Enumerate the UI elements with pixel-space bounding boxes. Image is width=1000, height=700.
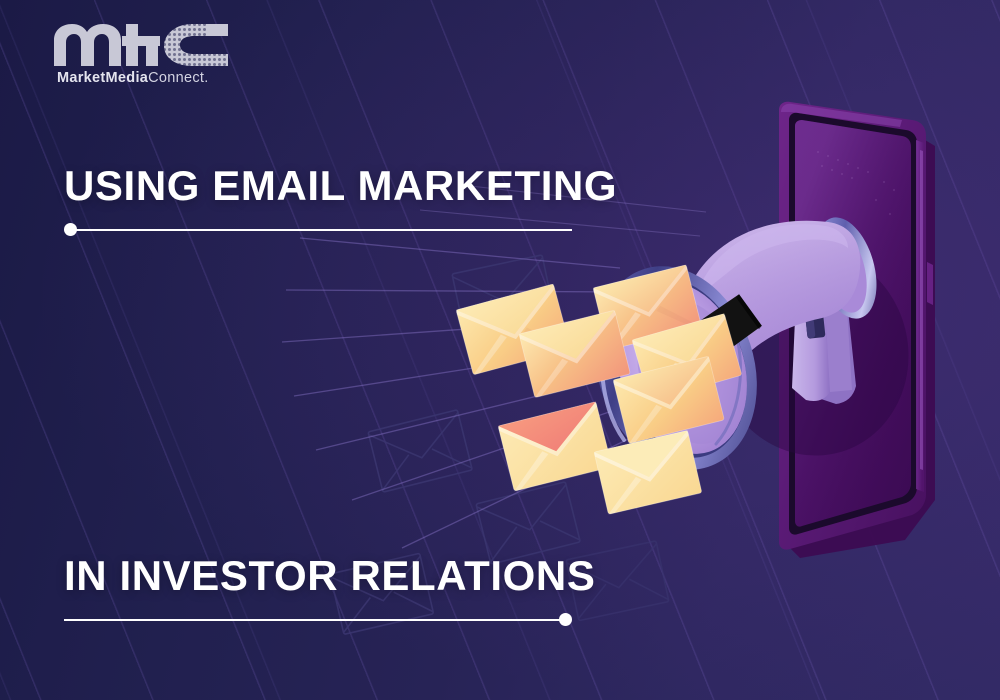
headline-rule-top xyxy=(64,223,572,236)
rule-bar xyxy=(70,229,572,231)
headline-line-2: IN INVESTOR RELATIONS xyxy=(64,552,595,600)
headline-bottom-block: IN INVESTOR RELATIONS xyxy=(64,552,595,626)
megaphone-back-ring xyxy=(805,210,887,325)
megaphone-cone xyxy=(645,221,860,438)
speed-lines xyxy=(282,238,668,548)
envelope xyxy=(593,265,702,350)
brand-tagline: MarketMediaConnect. xyxy=(57,70,209,86)
megaphone-mouth xyxy=(570,245,783,491)
volume-button xyxy=(927,262,933,305)
flying-envelopes xyxy=(456,265,742,515)
headline-line-1: USING EMAIL MARKETING xyxy=(64,162,617,210)
megaphone xyxy=(570,210,888,491)
tagline-bold: MarketMedia xyxy=(57,70,148,86)
brand-logo[interactable]: MarketMediaConnect. xyxy=(52,22,252,94)
headline-rule-bottom xyxy=(64,613,572,626)
envelope xyxy=(632,314,742,402)
mtc-monogram-icon xyxy=(52,22,232,68)
rule-dot xyxy=(64,223,77,236)
rule-bar xyxy=(64,619,566,621)
envelope xyxy=(613,356,724,443)
rule-dot xyxy=(559,613,572,626)
megaphone-trigger-button xyxy=(804,307,825,339)
tagline-light: Connect. xyxy=(148,70,208,86)
envelope xyxy=(519,310,630,397)
poster-canvas: MarketMediaConnect. USING EMAIL MARKETIN… xyxy=(0,0,1000,700)
megaphone-shadow xyxy=(694,228,931,476)
envelope xyxy=(498,402,612,492)
smartphone xyxy=(779,102,935,558)
megaphone-handle xyxy=(792,288,856,404)
megaphone-microphone xyxy=(681,291,768,367)
envelope xyxy=(456,284,571,375)
headline-top-block: USING EMAIL MARKETING xyxy=(64,162,617,236)
envelope xyxy=(594,430,702,514)
